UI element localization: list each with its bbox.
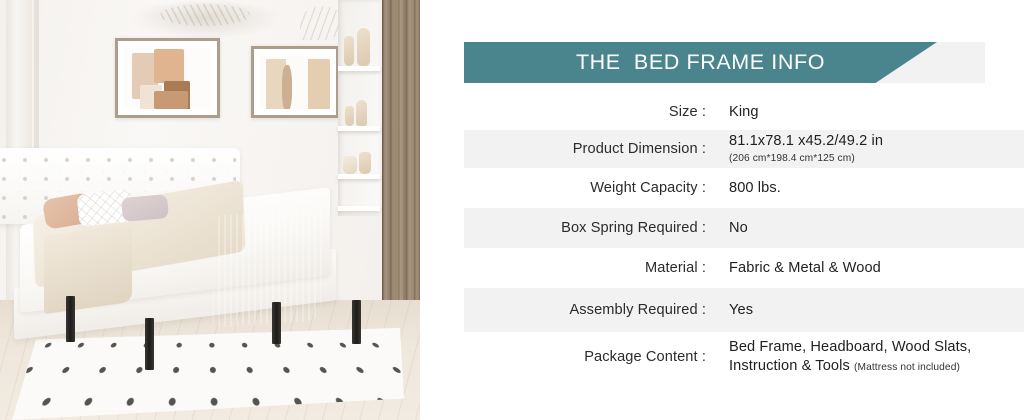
- framed-art-left: [115, 38, 220, 118]
- table-row-weight-capacity: Weight Capacity : 800 lbs.: [464, 168, 1024, 208]
- decor-vase: [357, 28, 370, 66]
- row-value-line1: Bed Frame, Headboard, Wood Slats,: [729, 339, 971, 355]
- decorative-pillow: [121, 194, 169, 222]
- bed-leg: [352, 300, 361, 344]
- table-row-size: Size : King: [464, 95, 1024, 130]
- row-label: Package Content :: [464, 348, 714, 366]
- row-label: Product Dimension :: [464, 140, 714, 158]
- row-value-note: (Mattress not included): [854, 362, 960, 373]
- table-row-product-dimension: Product Dimension : 81.1x78.1 x45.2/49.2…: [464, 130, 1024, 168]
- bed-leg: [145, 318, 154, 370]
- art-mat-right: [260, 55, 330, 109]
- row-label: Assembly Required :: [464, 301, 714, 319]
- bed-leg: [272, 302, 281, 344]
- table-row-package-content: Package Content : Bed Frame, Headboard, …: [464, 332, 1024, 382]
- framed-art-right: [251, 46, 339, 118]
- ceiling-branch-decor-icon: [160, 4, 250, 26]
- shelf-board: [338, 174, 380, 179]
- art-mat-left: [124, 47, 211, 109]
- row-value: King: [714, 103, 1024, 122]
- table-row-assembly-required: Assembly Required : Yes: [464, 288, 1024, 332]
- row-value: Bed Frame, Headboard, Wood Slats, Instru…: [714, 338, 1024, 376]
- throw-blanket-left: [44, 224, 132, 314]
- row-label: Box Spring Required :: [464, 219, 714, 237]
- decor-vase: [344, 36, 354, 66]
- row-value: Fabric & Metal & Wood: [714, 259, 1024, 278]
- bed-leg: [66, 296, 75, 342]
- row-value: 81.1x78.1 x45.2/49.2 in (206 cm*198.4 cm…: [714, 132, 1024, 165]
- decor-vase: [359, 152, 371, 174]
- decor-vase: [356, 100, 367, 126]
- spec-table: Size : King Product Dimension : 81.1x78.…: [421, 95, 1024, 382]
- row-label: Weight Capacity :: [464, 179, 714, 197]
- product-photo: [0, 0, 421, 420]
- row-value-sub: (206 cm*198.4 cm*125 cm): [729, 152, 1024, 165]
- window-curtain: [382, 0, 421, 348]
- shelf-board: [338, 206, 380, 211]
- decor-vase: [343, 156, 357, 174]
- table-row-material: Material : Fabric & Metal & Wood: [464, 248, 1024, 288]
- product-info-banner: THE BED FRAME INFO Size : King Product D…: [0, 0, 1024, 420]
- decor-vase: [345, 106, 354, 126]
- page-title: THE BED FRAME INFO: [464, 42, 937, 83]
- row-value-main: 81.1x78.1 x45.2/49.2 in: [729, 133, 883, 149]
- row-value-line2: Instruction & Tools: [729, 358, 850, 374]
- header-band: THE BED FRAME INFO: [464, 42, 985, 83]
- shelf-board: [338, 126, 380, 131]
- spec-panel: THE BED FRAME INFO Size : King Product D…: [421, 0, 1024, 420]
- throw-blanket: [212, 208, 324, 328]
- row-value: No: [714, 219, 1024, 238]
- row-label: Size :: [464, 103, 714, 121]
- row-value: Yes: [714, 301, 1024, 320]
- table-row-box-spring-required: Box Spring Required : No: [464, 208, 1024, 248]
- shelf-board: [338, 66, 380, 71]
- row-value: 800 lbs.: [714, 179, 1024, 198]
- row-label: Material :: [464, 259, 714, 277]
